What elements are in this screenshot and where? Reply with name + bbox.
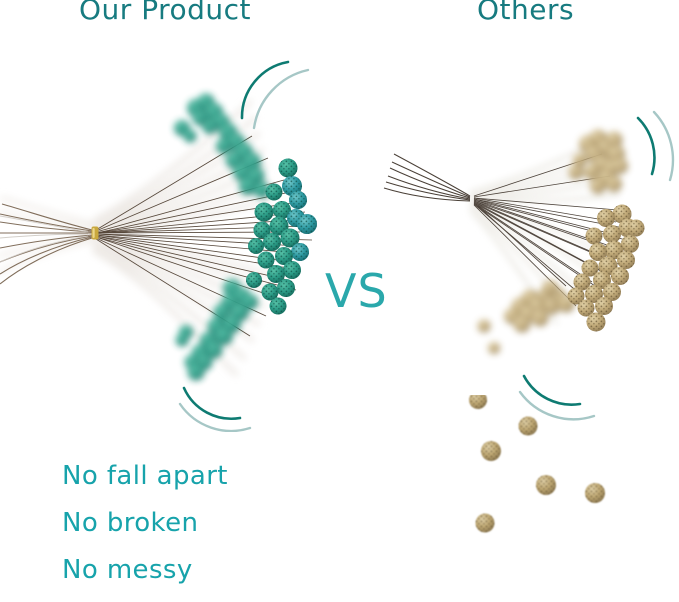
benefit-item-no-broken: No broken — [62, 508, 198, 538]
benefit-item-no-messy: No messy — [62, 555, 193, 585]
motion-arc-top-left — [228, 48, 314, 134]
heading-others: Others — [477, 0, 574, 26]
seed-heads-cluster-right — [568, 205, 645, 332]
motion-arc-top-right — [626, 108, 679, 188]
benefit-item-no-fall-apart: No fall apart — [62, 461, 228, 491]
binding-collar — [92, 227, 99, 240]
motion-arc-bottom-left — [178, 366, 268, 432]
handle-fibers-right — [384, 154, 470, 201]
comparison-canvas: Our Product Others — [0, 0, 679, 602]
motion-arc-bottom-right — [516, 356, 612, 422]
vs-label: VS — [325, 264, 388, 318]
heading-our-product: Our Product — [79, 0, 251, 26]
